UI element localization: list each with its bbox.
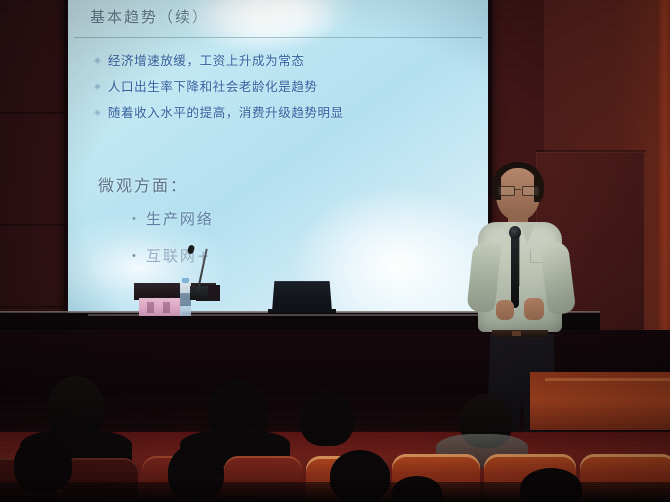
bullet-marker-icon: • [132, 213, 136, 225]
bullet-text: 随着收入水平的提高，消费升级趋势明显 [108, 104, 344, 121]
list-item: • 生产网络 [132, 208, 214, 229]
projection-screen: 基本趋势（续） ◈ 经济增速放缓，工资上升成为常态 ◈ 人口出生率下降和社会老龄… [68, 0, 488, 316]
list-item: ◈ 经济增速放缓，工资上升成为常态 [94, 52, 474, 69]
bullet-marker-icon: ◈ [94, 78, 101, 95]
lecture-photo: 基本趋势（续） ◈ 经济增速放缓，工资上升成为常态 ◈ 人口出生率下降和社会老龄… [0, 0, 670, 502]
pink-box [139, 298, 182, 316]
slide-bullet-list: ◈ 经济增速放缓，工资上升成为常态 ◈ 人口出生率下降和社会老龄化是趋势 ◈ 随… [94, 52, 474, 130]
glasses-icon [498, 186, 539, 194]
wall-seam [0, 224, 64, 226]
presenter-hand-right [524, 298, 544, 320]
list-item: ◈ 随着收入水平的提高，消费升级趋势明显 [94, 104, 474, 121]
wall-seam [0, 112, 64, 114]
bottle-cap [182, 278, 189, 283]
wall-seam [536, 150, 646, 152]
audience-wall-trim [545, 378, 670, 381]
audience-head [48, 376, 104, 438]
microphone-head-icon [509, 226, 521, 239]
slide-section-heading: 微观方面： [98, 172, 188, 196]
laptop-base [268, 309, 336, 313]
bullet-marker-icon: ◈ [94, 104, 101, 121]
audience-head [300, 390, 354, 446]
slide-title: 基本趋势（续） [90, 6, 209, 27]
audience-foreground-shadow [0, 482, 670, 502]
bullet-text: 人口出生率下降和社会老龄化是趋势 [108, 78, 318, 95]
audience-area [0, 372, 670, 502]
handheld-microphone [511, 232, 519, 308]
laptop [272, 281, 332, 311]
bullet-marker-icon: • [132, 250, 136, 262]
list-item: ◈ 人口出生率下降和社会老龄化是趋势 [94, 78, 474, 95]
sub-item-text: 生产网络 [146, 208, 214, 229]
wall-seam [0, 306, 64, 308]
bullet-marker-icon: ◈ [94, 52, 101, 69]
wall-accent-strip [656, 0, 670, 380]
presenter-hand-left [496, 300, 514, 320]
title-divider [74, 37, 482, 38]
bullet-text: 经济增速放缓，工资上升成为常态 [108, 52, 305, 69]
belt-buckle [512, 331, 521, 336]
